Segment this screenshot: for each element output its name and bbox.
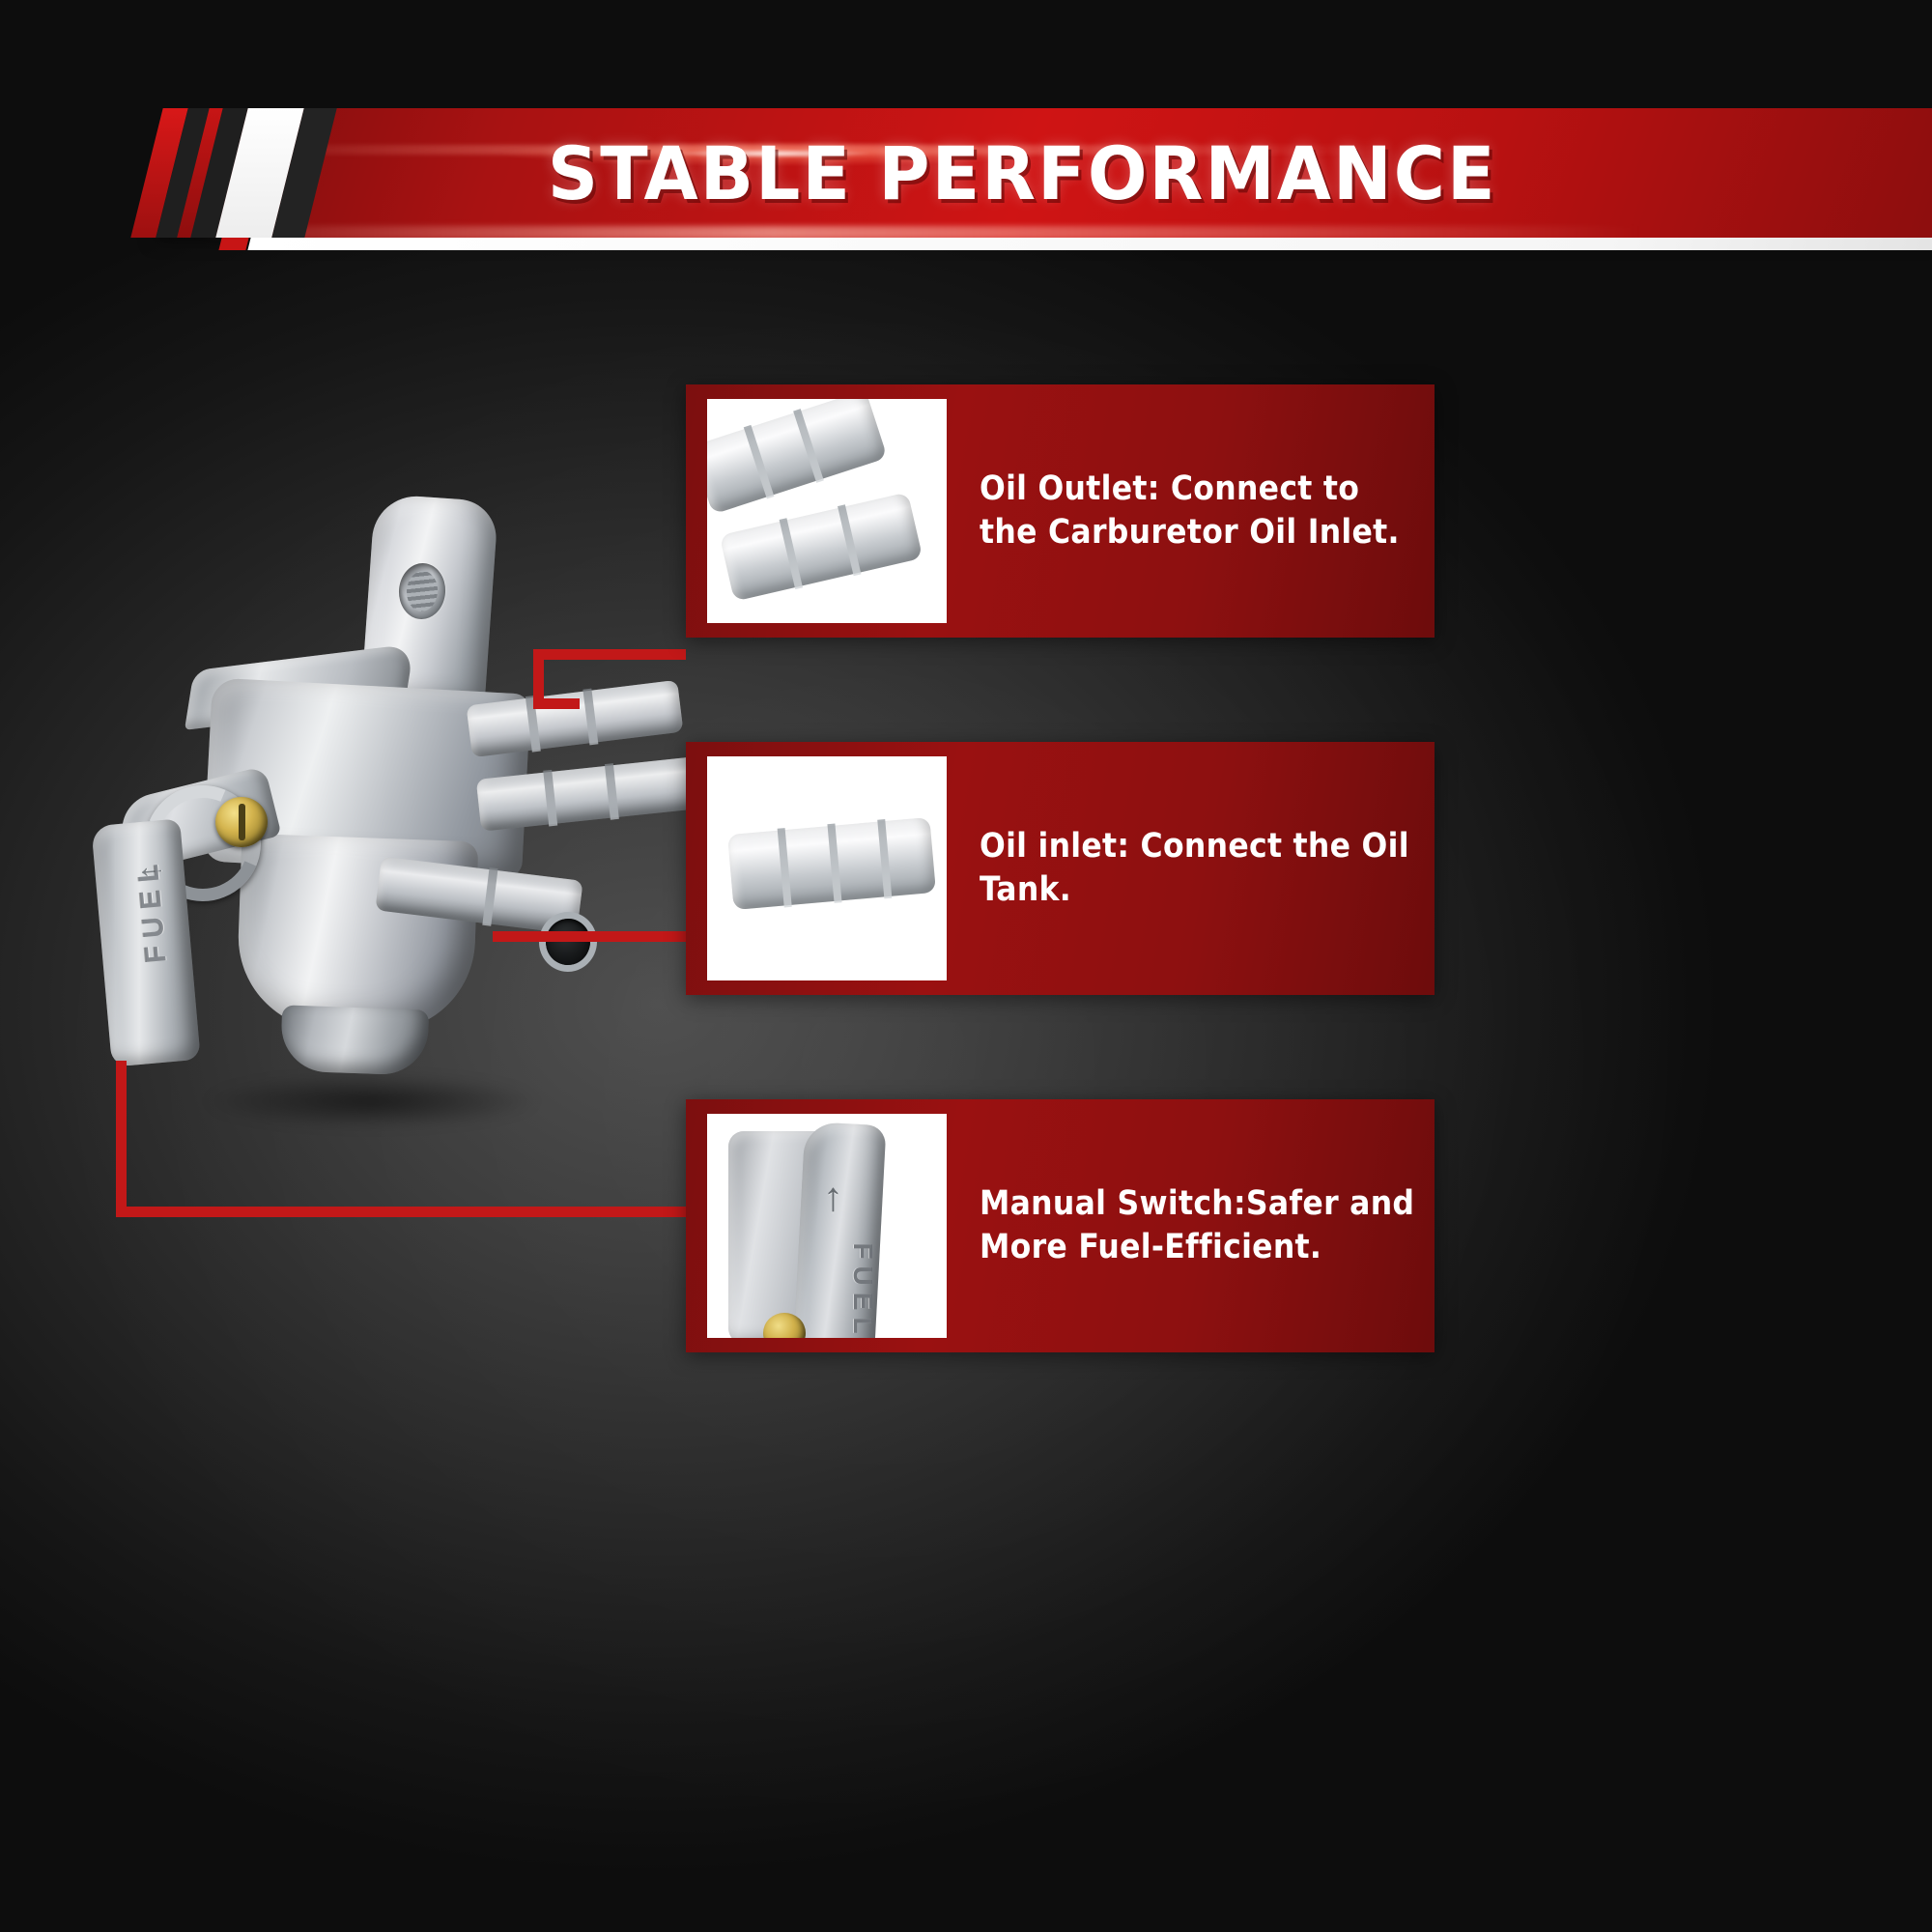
- callout-card-oil-inlet[interactable]: Oil inlet: Connect the Oil Tank.: [686, 742, 1435, 995]
- callout-text-oil-outlet: Oil Outlet: Connect to the Carburetor Oi…: [947, 468, 1435, 554]
- product-bowl-cap: [280, 1005, 429, 1075]
- product-outlet-nipple-upper: [467, 680, 684, 757]
- banner-underline-white: [247, 238, 1932, 250]
- product-lever-arrow-icon: ↑: [130, 862, 169, 881]
- barb-lower-icon: [720, 492, 923, 601]
- callout-card-oil-outlet[interactable]: Oil Outlet: Connect to the Carburetor Oi…: [686, 384, 1435, 638]
- c3-lever-arrow-icon: ↑: [823, 1174, 843, 1220]
- barb-inlet-icon: [727, 817, 936, 910]
- banner-underline-red: [218, 238, 248, 250]
- c3-lever-fuel-label: FUEL: [847, 1219, 878, 1338]
- callout-photo-oil-outlet: [707, 399, 947, 623]
- header-banner: STABLE PERFORMANCE: [0, 108, 1932, 263]
- connector-line-1-horizontal-top: [533, 649, 686, 660]
- connector-line-2: [493, 931, 686, 942]
- product-brass-screw: [215, 797, 268, 847]
- callout-text-manual-switch: Manual Switch:Safer and More Fuel-Effici…: [947, 1182, 1435, 1269]
- barb-upper-icon: [707, 399, 888, 515]
- page-title: STABLE PERFORMANCE: [0, 108, 1932, 238]
- callout-text-oil-inlet: Oil inlet: Connect the Oil Tank.: [947, 825, 1435, 912]
- callout-photo-manual-switch: ↑ FUEL: [707, 1114, 947, 1338]
- connector-line-3-horizontal: [116, 1207, 686, 1217]
- product-shadow: [208, 1075, 536, 1127]
- product-image-fuel-petcock-valve: ↑ FUEL: [92, 478, 710, 1135]
- connector-line-1-horizontal-bottom: [533, 698, 580, 709]
- connector-line-3-vertical: [116, 1061, 127, 1217]
- callout-photo-oil-inlet: [707, 756, 947, 980]
- callout-card-manual-switch[interactable]: ↑ FUEL Manual Switch:Safer and More Fuel…: [686, 1099, 1435, 1352]
